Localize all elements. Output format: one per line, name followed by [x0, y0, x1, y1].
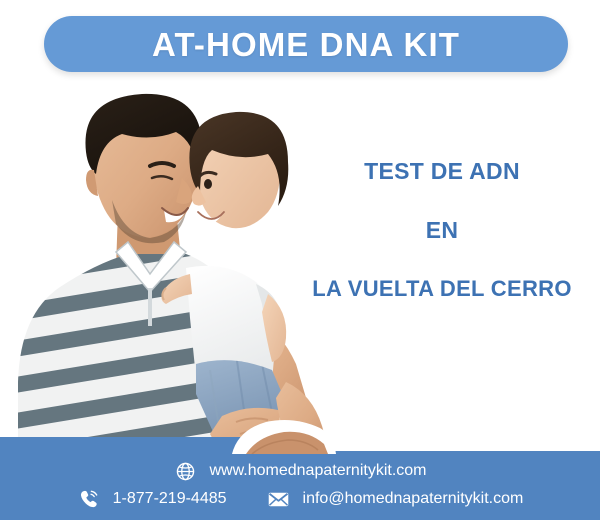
father-and-child-photo: [0, 82, 330, 454]
headline-line-1: TEST DE ADN: [296, 160, 588, 183]
phone-label: 1-877-219-4485: [113, 491, 227, 507]
globe-icon: [174, 459, 198, 483]
phone-item[interactable]: 1-877-219-4485: [77, 487, 227, 511]
dna-kit-promo-banner: AT-HOME DNA KIT: [0, 0, 600, 520]
headline-block: TEST DE ADN EN LA VUELTA DEL CERRO: [296, 160, 588, 300]
footer-row-phone-email: 1-877-219-4485 info@homednapaternitykit.…: [0, 487, 600, 511]
header-title-text: AT-HOME DNA KIT: [152, 28, 460, 61]
envelope-icon: [267, 487, 291, 511]
website-item[interactable]: www.homednapaternitykit.com: [174, 459, 427, 483]
footer-content: www.homednapaternitykit.com 1-877-219-44…: [0, 437, 600, 520]
email-item[interactable]: info@homednapaternitykit.com: [267, 487, 524, 511]
header-title-pill: AT-HOME DNA KIT: [44, 16, 568, 72]
headline-line-2: EN: [296, 219, 588, 242]
email-label: info@homednapaternitykit.com: [303, 491, 524, 507]
phone-icon: [77, 487, 101, 511]
contact-footer: www.homednapaternitykit.com 1-877-219-44…: [0, 437, 600, 520]
headline-line-3: LA VUELTA DEL CERRO: [296, 278, 588, 300]
website-label: www.homednapaternitykit.com: [210, 463, 427, 479]
footer-row-website: www.homednapaternitykit.com: [0, 459, 600, 483]
